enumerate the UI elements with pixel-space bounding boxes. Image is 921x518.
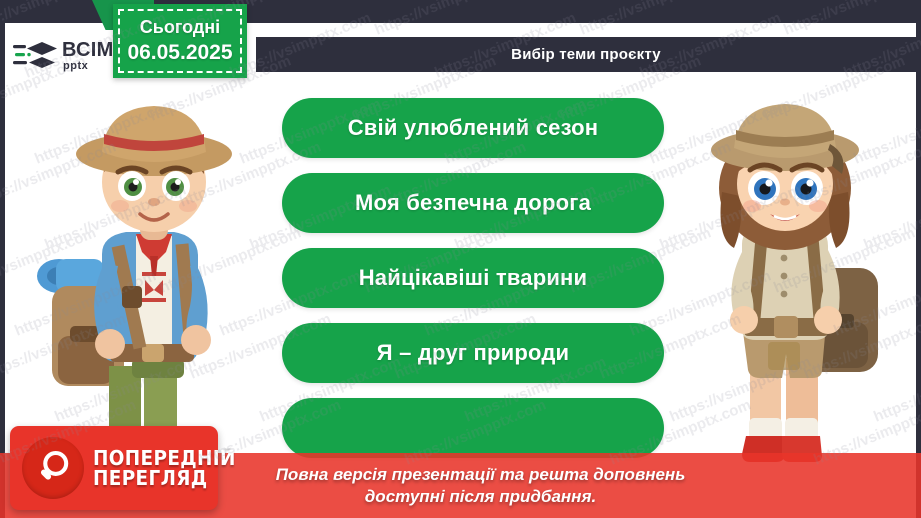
topic-option-2[interactable]: Моя безпечна дорога: [282, 173, 664, 233]
topic-option-label: Свій улюблений сезон: [348, 115, 599, 141]
topic-option-list: Свій улюблений сезон Моя безпечна дорога…: [282, 98, 664, 458]
topic-option-4[interactable]: Я – друг природи: [282, 323, 664, 383]
girl-explorer-illustration: [670, 92, 905, 467]
boy-explorer-illustration: [14, 86, 264, 446]
preview-badge-line1: ПОПЕРЕДНІЙ: [93, 448, 236, 468]
graduation-cap-icon: [13, 39, 57, 73]
slide-header-bar: Вибір теми проєкту: [256, 37, 916, 72]
right-edge-strip: [916, 23, 921, 518]
purchase-notice-line2: доступні після придбання.: [276, 486, 686, 508]
topic-option-label: Найцікавіші тварини: [359, 265, 588, 291]
date-label: Сьогодні: [140, 15, 220, 39]
logo-title: ВСІМ: [62, 40, 114, 60]
purchase-notice-line1: Повна версія презентації та решта доповн…: [276, 464, 686, 486]
page-title: Вибір теми проєкту: [511, 46, 661, 63]
date-badge: Сьогодні 06.05.2025: [113, 4, 247, 78]
topic-option-label: Я – друг природи: [377, 340, 569, 366]
left-edge-strip: [0, 23, 5, 518]
preview-badge-line2: ПЕРЕГЛЯД: [93, 468, 236, 488]
topic-option-label: Моя безпечна дорога: [355, 190, 591, 216]
magnifier-icon: [22, 437, 84, 499]
topic-option-5[interactable]: [282, 398, 664, 458]
topic-option-3[interactable]: Найцікавіші тварини: [282, 248, 664, 308]
brand-logo[interactable]: ВСІМ pptx: [5, 30, 117, 82]
purchase-notice-text: Повна версія презентації та решта доповн…: [276, 464, 686, 508]
topic-option-1[interactable]: Свій улюблений сезон: [282, 98, 664, 158]
preview-badge[interactable]: ПОПЕРЕДНІЙ ПЕРЕГЛЯД: [10, 426, 218, 510]
logo-subtitle: pptx: [63, 61, 114, 72]
date-value: 06.05.2025: [127, 39, 232, 67]
presentation-slide: ВСІМ pptx Сьогодні 06.05.2025 Вибір теми…: [0, 0, 921, 518]
